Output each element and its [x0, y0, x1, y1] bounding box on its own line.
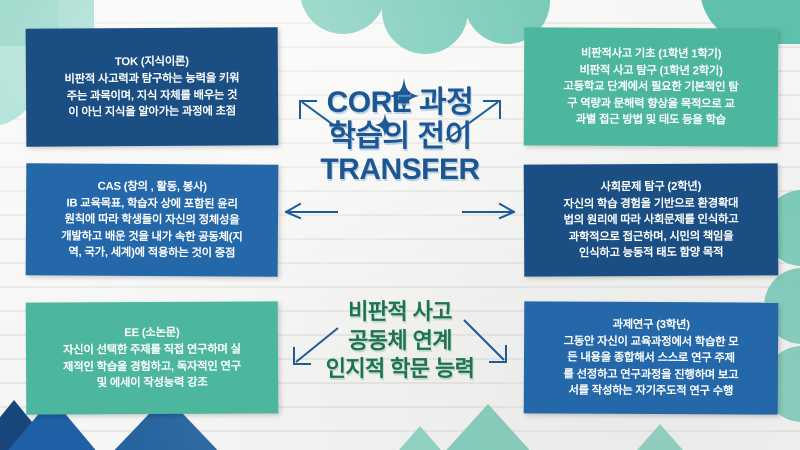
info-box-social-line-4: 인식하고 능동적 태도 함양 목적 — [534, 244, 768, 261]
info-box-critical-thinking: 비판적사고 기초 (1학년 1학기) 비판적 사고 탐구 (1학년 2학기) 고… — [524, 27, 779, 146]
info-box-cas-header: CAS (창의 , 활동, 봉사) — [36, 179, 268, 196]
info-box-social-line-1: 자신의 학습 경험을 기반으로 환경확대 — [534, 196, 768, 213]
info-box-cas-line-1: IB 교육목표, 학습자 상에 포함된 윤리 — [36, 196, 268, 213]
decor-scallop-segment — [300, 0, 386, 34]
info-box-research-line-4: 서를 작성하는 자기주도적 연구 수행 — [534, 382, 768, 399]
info-box-critical-line-4: 과별 접근 방법 및 태도 등을 학습 — [534, 111, 768, 128]
center-keyword-line-3: 인지적 학문 능력 — [286, 355, 514, 384]
info-box-critical-line-2: 고등학교 단계에서 필요한 기본적인 탐 — [534, 79, 768, 96]
info-box-tok-header: TOK (지식이론) — [36, 54, 268, 71]
center-title-group: CORE 과정 학습의 전이 TRANSFER — [286, 86, 514, 187]
info-box-research-line-2: 든 내용을 종합해서 스스로 연구 주제 — [534, 350, 768, 367]
info-box-tok-line-2: 주는 과목이며, 지식 자체를 배우는 것 — [36, 87, 268, 104]
center-keyword-group: 비판적 사고 공동체 연계 인지적 학문 능력 — [286, 298, 514, 384]
center-keyword-line-1: 비판적 사고 — [286, 298, 514, 327]
info-box-research-line-1: 그동안 자신이 교육과정에서 학습한 모 — [534, 334, 768, 351]
poster-canvas: TOK (지식이론) 비판적 사고력과 탐구하는 능력을 키워 주는 과목이며,… — [0, 0, 800, 450]
info-box-ee: EE (소논문) 자신이 선택한 주제를 직접 연구하며 실 제적인 학습을 경… — [26, 301, 279, 414]
decor-teal-mountain-3 — [614, 424, 706, 450]
info-box-critical-header: 비판적사고 기초 (1학년 1학기) — [534, 46, 768, 63]
info-box-tok: TOK (지식이론) 비판적 사고력과 탐구하는 능력을 키워 주는 과목이며,… — [26, 27, 279, 147]
info-box-research-line-3: 를 선정하고 연구과정을 진행하며 보고 — [534, 366, 768, 383]
center-title-line-3: TRANSFER — [286, 153, 514, 187]
arrow-right-icon — [462, 196, 518, 218]
decor-scallop-segment — [382, 0, 468, 54]
info-box-ee-line-2: 제적인 학습을 경험하고, 독자적인 연구 — [36, 358, 268, 375]
info-box-project-research: 과제연구 (3학년) 그동안 자신이 교육과정에서 학습한 모 든 내용을 종합… — [524, 301, 779, 414]
info-box-cas-line-3: 개발하고 배운 것을 내가 속한 공동체(지 — [36, 228, 268, 245]
info-box-research-header: 과제연구 (3학년) — [534, 317, 768, 334]
arrow-left-icon — [282, 196, 338, 218]
info-box-ee-header: EE (소논문) — [36, 325, 268, 342]
center-keyword-line-2: 공동체 연계 — [286, 327, 514, 356]
info-box-cas-line-2: 원칙에 따라 학생들이 자신의 정체성을 — [36, 212, 268, 229]
info-box-social-header: 사회문제 탐구 (2학년) — [534, 179, 768, 196]
info-box-critical-line-1: 비판적 사고 탐구 (1학년 2학기) — [534, 63, 768, 80]
center-title-line-1: CORE 과정 — [286, 86, 514, 120]
center-title-line-2: 학습의 전이 — [286, 120, 514, 154]
info-box-social-inquiry: 사회문제 탐구 (2학년) 자신의 학습 경험을 기반으로 환경확대 법의 원리… — [524, 163, 779, 276]
info-box-social-line-2: 법의 원리에 따라 사회문제를 인식하고 — [534, 212, 768, 229]
info-box-critical-line-3: 구 역량과 문해력 향상을 목적으로 교 — [534, 95, 768, 112]
info-box-ee-line-1: 자신이 선택한 주제를 직접 연구하며 실 — [36, 342, 268, 359]
decor-teal-scallop-top — [300, 0, 560, 46]
info-box-social-line-3: 과학적으로 접근하며, 시민의 책임을 — [534, 228, 768, 245]
info-box-ee-line-3: 및 에세이 작성능력 강조 — [36, 374, 268, 391]
info-box-tok-line-3: 이 아닌 지식을 알아가는 과정에 초점 — [36, 103, 268, 120]
info-box-cas: CAS (창의 , 활동, 봉사) IB 교육목표, 학습자 상에 포함된 윤리… — [26, 163, 279, 277]
info-box-tok-line-1: 비판적 사고력과 탐구하는 능력을 키워 — [36, 71, 268, 88]
info-box-cas-line-4: 역, 국가, 세계)에 적용하는 것이 중점 — [36, 244, 268, 261]
